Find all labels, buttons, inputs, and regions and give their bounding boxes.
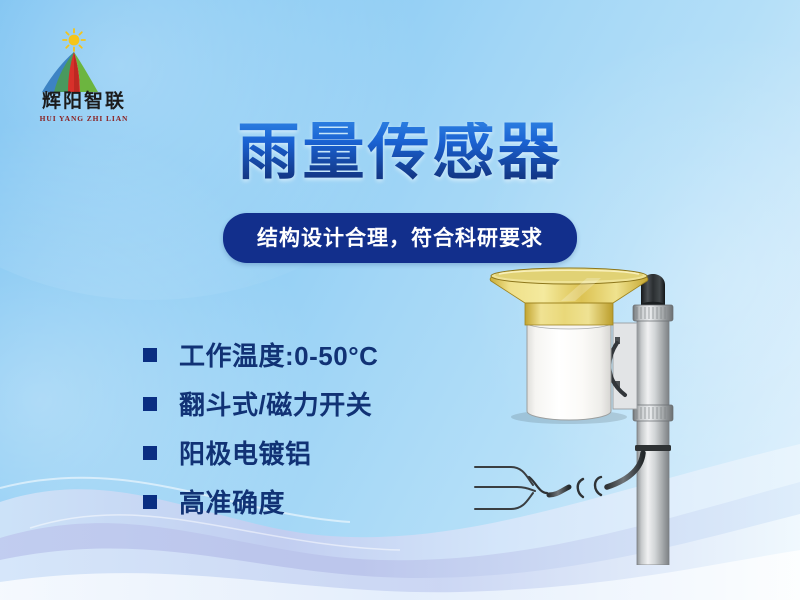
yellow-funnel-collector bbox=[490, 268, 648, 325]
brand-name-cn: 辉阳智联 bbox=[24, 92, 144, 112]
upper-clamp-band bbox=[633, 305, 673, 321]
list-item: 高准确度 bbox=[143, 477, 473, 526]
square-bullet-icon bbox=[143, 446, 157, 460]
feature-label: 阳极电镀铝 bbox=[179, 434, 312, 471]
page-title: 雨量传感器 bbox=[0, 122, 800, 184]
list-item: 阳极电镀铝 bbox=[143, 428, 473, 477]
list-item: 翻斗式/磁力开关 bbox=[143, 379, 473, 428]
lower-clamp-band bbox=[633, 405, 673, 421]
sensor-output-cable bbox=[475, 453, 643, 509]
feature-label: 工作温度:0-50°C bbox=[179, 336, 378, 373]
list-item: 工作温度:0-50°C bbox=[143, 330, 473, 379]
square-bullet-icon bbox=[143, 348, 157, 362]
square-bullet-icon bbox=[143, 495, 157, 509]
subtitle-badge: 结构设计合理，符合科研要求 bbox=[223, 213, 577, 263]
feature-list: 工作温度:0-50°C 翻斗式/磁力开关 阳极电镀铝 高准确度 bbox=[143, 330, 473, 526]
feature-label: 高准确度 bbox=[179, 483, 285, 520]
metal-mounting-pole bbox=[637, 307, 669, 565]
brand-wordmark: 辉阳智联 HUI YANG ZHI LIAN bbox=[24, 92, 144, 123]
rain-gauge-sensor-illustration bbox=[465, 265, 715, 565]
feature-label: 翻斗式/磁力开关 bbox=[179, 385, 372, 422]
pole-strap bbox=[635, 445, 671, 451]
white-cylinder-housing bbox=[527, 317, 611, 420]
square-bullet-icon bbox=[143, 397, 157, 411]
mountain-sun-logo-icon bbox=[42, 29, 98, 92]
poster-canvas: 辉阳智联 HUI YANG ZHI LIAN 雨量传感器 结构设计合理，符合科研… bbox=[0, 0, 800, 600]
